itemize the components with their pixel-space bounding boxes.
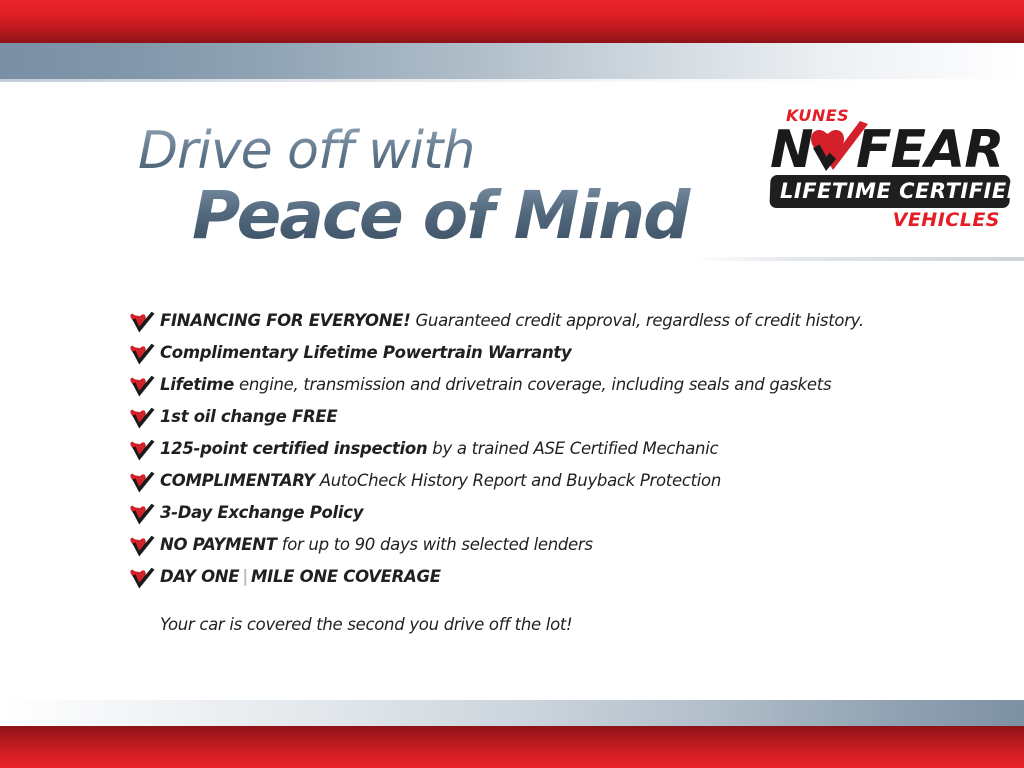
heart-check-bullet-icon: [130, 311, 156, 335]
heart-check-bullet-icon: [130, 407, 156, 431]
list-item-bold: Lifetime: [160, 375, 234, 394]
heart-check-bullet-icon: [130, 535, 156, 559]
top-red-band: [0, 0, 1024, 43]
list-item-rest: engine, transmission and drivetrain cove…: [234, 375, 831, 394]
list-item-bold: COMPLIMENTARY: [160, 471, 315, 490]
list-item: COMPLIMENTARY AutoCheck History Report a…: [130, 469, 950, 501]
list-item-subline: Your car is covered the second you drive…: [160, 614, 950, 636]
list-item-text: NO PAYMENT for up to 90 days with select…: [160, 533, 593, 557]
list-item-text: COMPLIMENTARY AutoCheck History Report a…: [160, 469, 721, 493]
kunes-no-fear-logo: KUNES N FEAR LIFETIME CERTIFIED VEHICLES: [770, 108, 1010, 230]
logo-lifetime-certified-bar: LIFETIME CERTIFIED: [769, 175, 1010, 208]
list-item-text: Lifetime engine, transmission and drivet…: [160, 373, 831, 397]
list-item-bold: NO PAYMENT: [160, 535, 277, 554]
headline-line-1: Drive off with: [138, 124, 758, 179]
promo-banner: Drive off with Peace of Mind KUNES N FEA…: [0, 0, 1024, 768]
list-item-separator: |: [239, 567, 251, 586]
headline-block: Drive off with Peace of Mind: [138, 124, 758, 250]
heart-check-bullet-icon: [130, 471, 156, 495]
list-item-rest: Guaranteed credit approval, regardless o…: [411, 311, 864, 330]
list-item: FINANCING FOR EVERYONE! Guaranteed credi…: [130, 309, 950, 341]
list-item-bold: 1st oil change FREE: [160, 407, 337, 426]
list-item-bold: 125-point certified inspection: [160, 439, 427, 458]
list-item-bold: DAY ONE: [160, 567, 239, 586]
list-item-text: FINANCING FOR EVERYONE! Guaranteed credi…: [160, 309, 864, 333]
list-item: NO PAYMENT for up to 90 days with select…: [130, 533, 950, 565]
heart-check-bullet-icon: [130, 343, 156, 367]
headline-line-2: Peace of Mind: [192, 181, 758, 250]
list-item-bold: Complimentary Lifetime Powertrain Warran…: [160, 343, 571, 362]
bottom-gray-band: [0, 700, 1024, 726]
list-item-text: 1st oil change FREE: [160, 405, 337, 429]
heart-check-bullet-icon: [130, 567, 156, 591]
list-item-text: Complimentary Lifetime Powertrain Warran…: [160, 341, 571, 365]
list-item-rest: by a trained ASE Certified Mechanic: [427, 439, 718, 458]
logo-lifetime-certified-text: LIFETIME CERTIFIED: [780, 180, 1000, 202]
logo-word-vehicles: VEHICLES: [770, 211, 1000, 230]
list-item-rest: for up to 90 days with selected lenders: [277, 535, 593, 554]
list-item-rest: AutoCheck History Report and Buyback Pro…: [315, 471, 721, 490]
logo-nofear-wordmark: N FEAR: [770, 125, 1010, 177]
top-gray-band: [0, 43, 1024, 82]
list-item: Lifetime engine, transmission and drivet…: [130, 373, 950, 405]
benefits-list: FINANCING FOR EVERYONE! Guaranteed credi…: [130, 309, 950, 636]
header-divider: [690, 257, 1024, 261]
heart-check-bullet-icon: [130, 503, 156, 527]
list-item: 1st oil change FREE: [130, 405, 950, 437]
heart-check-bullet-icon: [130, 439, 156, 463]
list-item-bold-2: MILE ONE COVERAGE: [251, 567, 441, 586]
list-item-bold: 3-Day Exchange Policy: [160, 503, 363, 522]
list-item: 3-Day Exchange Policy: [130, 501, 950, 533]
list-item-text: 125-point certified inspection by a trai…: [160, 437, 718, 461]
bottom-red-band: [0, 726, 1024, 768]
list-item: 125-point certified inspection by a trai…: [130, 437, 950, 469]
list-item: Complimentary Lifetime Powertrain Warran…: [130, 341, 950, 373]
logo-word-fear: FEAR: [856, 125, 1003, 175]
list-item-text: DAY ONE|MILE ONE COVERAGE: [160, 565, 441, 589]
list-item-bold: FINANCING FOR EVERYONE!: [160, 311, 411, 330]
list-item: DAY ONE|MILE ONE COVERAGE: [130, 565, 950, 615]
list-item-text: 3-Day Exchange Policy: [160, 501, 363, 525]
heart-check-bullet-icon: [130, 375, 156, 399]
